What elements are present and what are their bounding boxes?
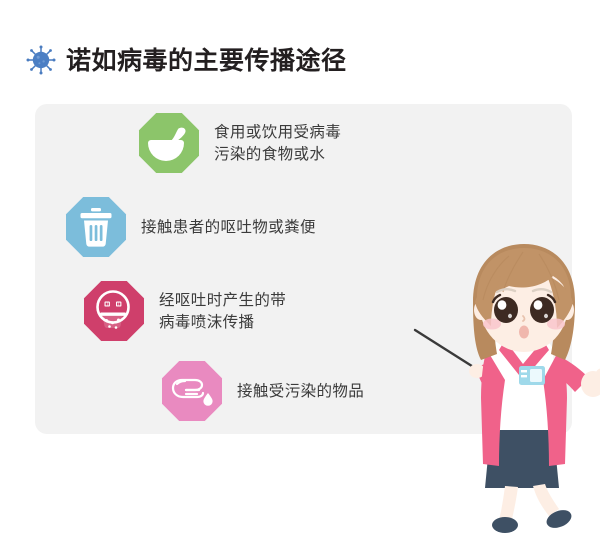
vomiting-face-icon — [83, 280, 145, 342]
route-item-vomit-faeces[interactable]: 接触患者的呕吐物或粪便 — [65, 196, 316, 258]
hand-droplet-icon — [161, 360, 223, 422]
route-item-droplet-spray[interactable]: 经呕吐时产生的带 病毒喷沫传播 — [83, 280, 286, 342]
route-label: 经呕吐时产生的带 病毒喷沫传播 — [159, 289, 286, 334]
id-badge — [519, 366, 545, 385]
virus-icon — [26, 45, 56, 75]
page-title: 诺如病毒的主要传播途径 — [66, 48, 347, 73]
route-label: 接触患者的呕吐物或粪便 — [141, 216, 316, 238]
infographic-root: 诺如病毒的主要传播途径 食用或饮用受病毒 污染的食物或水 — [0, 0, 600, 452]
transmission-route-list: 食用或饮用受病毒 污染的食物或水 — [35, 104, 435, 434]
route-item-contaminated-objects[interactable]: 接触受污染的物品 — [161, 360, 364, 422]
raised-hand — [581, 368, 600, 397]
trash-can-icon — [65, 196, 127, 258]
female-doctor-illustration — [413, 244, 600, 544]
route-label: 接触受污染的物品 — [237, 380, 364, 402]
route-label: 食用或饮用受病毒 污染的食物或水 — [214, 121, 341, 166]
header: 诺如病毒的主要传播途径 — [26, 38, 347, 82]
bowl-spoon-icon — [138, 112, 200, 174]
content-card: 食用或饮用受病毒 污染的食物或水 — [35, 104, 572, 434]
route-item-food-water[interactable]: 食用或饮用受病毒 污染的食物或水 — [138, 112, 341, 174]
